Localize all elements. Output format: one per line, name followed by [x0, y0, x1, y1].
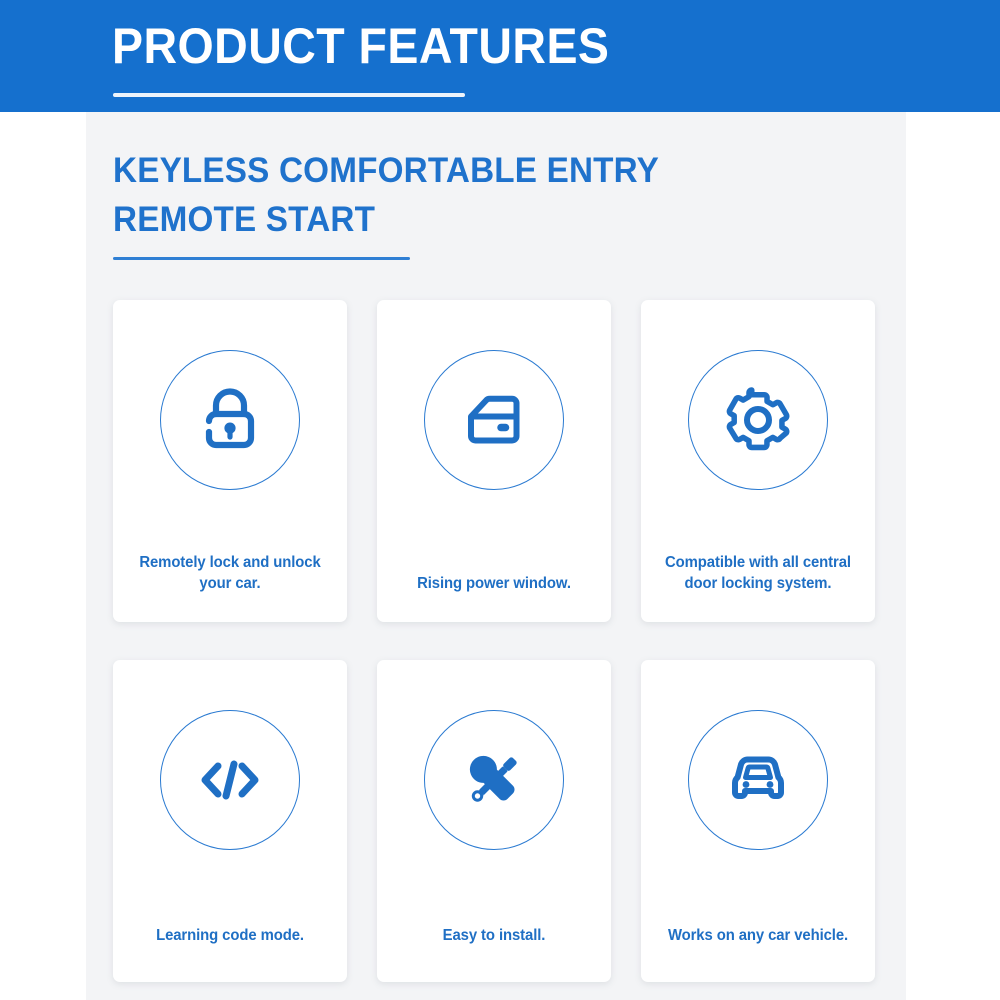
screwdriver-wrench-icon: [455, 741, 533, 819]
page-title: PRODUCT FEATURES: [112, 16, 609, 76]
icon-circle: [688, 710, 828, 850]
feature-card-any-vehicle[interactable]: Works on any car vehicle.: [641, 660, 875, 982]
car-front-icon: [717, 739, 799, 821]
header-underline: [113, 93, 465, 97]
padlock-icon: [191, 381, 269, 459]
page-header: PRODUCT FEATURES: [0, 0, 1000, 112]
gear-icon: [718, 380, 798, 460]
card-caption: Works on any car vehicle.: [655, 925, 860, 946]
card-caption: Easy to install.: [391, 925, 596, 946]
icon-circle: [160, 350, 300, 490]
car-door-icon: [455, 381, 533, 459]
icon-circle: [160, 710, 300, 850]
card-caption: Compatible with all central door locking…: [655, 552, 860, 594]
section-heading-line-1: KEYLESS COMFORTABLE ENTRY: [113, 151, 659, 190]
code-brackets-icon: [192, 742, 268, 818]
feature-card-learning-code[interactable]: Learning code mode.: [113, 660, 347, 982]
icon-circle: [424, 350, 564, 490]
feature-card-easy-install[interactable]: Easy to install.: [377, 660, 611, 982]
card-caption: Remotely lock and unlock your car.: [127, 552, 332, 594]
feature-card-grid: Remotely lock and unlock your car. Risin…: [113, 300, 879, 982]
icon-circle: [424, 710, 564, 850]
section-heading: KEYLESS COMFORTABLE ENTRY REMOTE START: [113, 146, 778, 244]
section-heading-line-2: REMOTE START: [113, 195, 778, 244]
section-underline: [113, 257, 410, 260]
card-caption: Rising power window.: [391, 573, 596, 594]
feature-card-power-window[interactable]: Rising power window.: [377, 300, 611, 622]
icon-circle: [688, 350, 828, 490]
feature-card-remote-lock[interactable]: Remotely lock and unlock your car.: [113, 300, 347, 622]
feature-card-central-locking[interactable]: Compatible with all central door locking…: [641, 300, 875, 622]
product-features-page: PRODUCT FEATURES KEYLESS COMFORTABLE ENT…: [0, 0, 1000, 1000]
card-caption: Learning code mode.: [127, 925, 332, 946]
